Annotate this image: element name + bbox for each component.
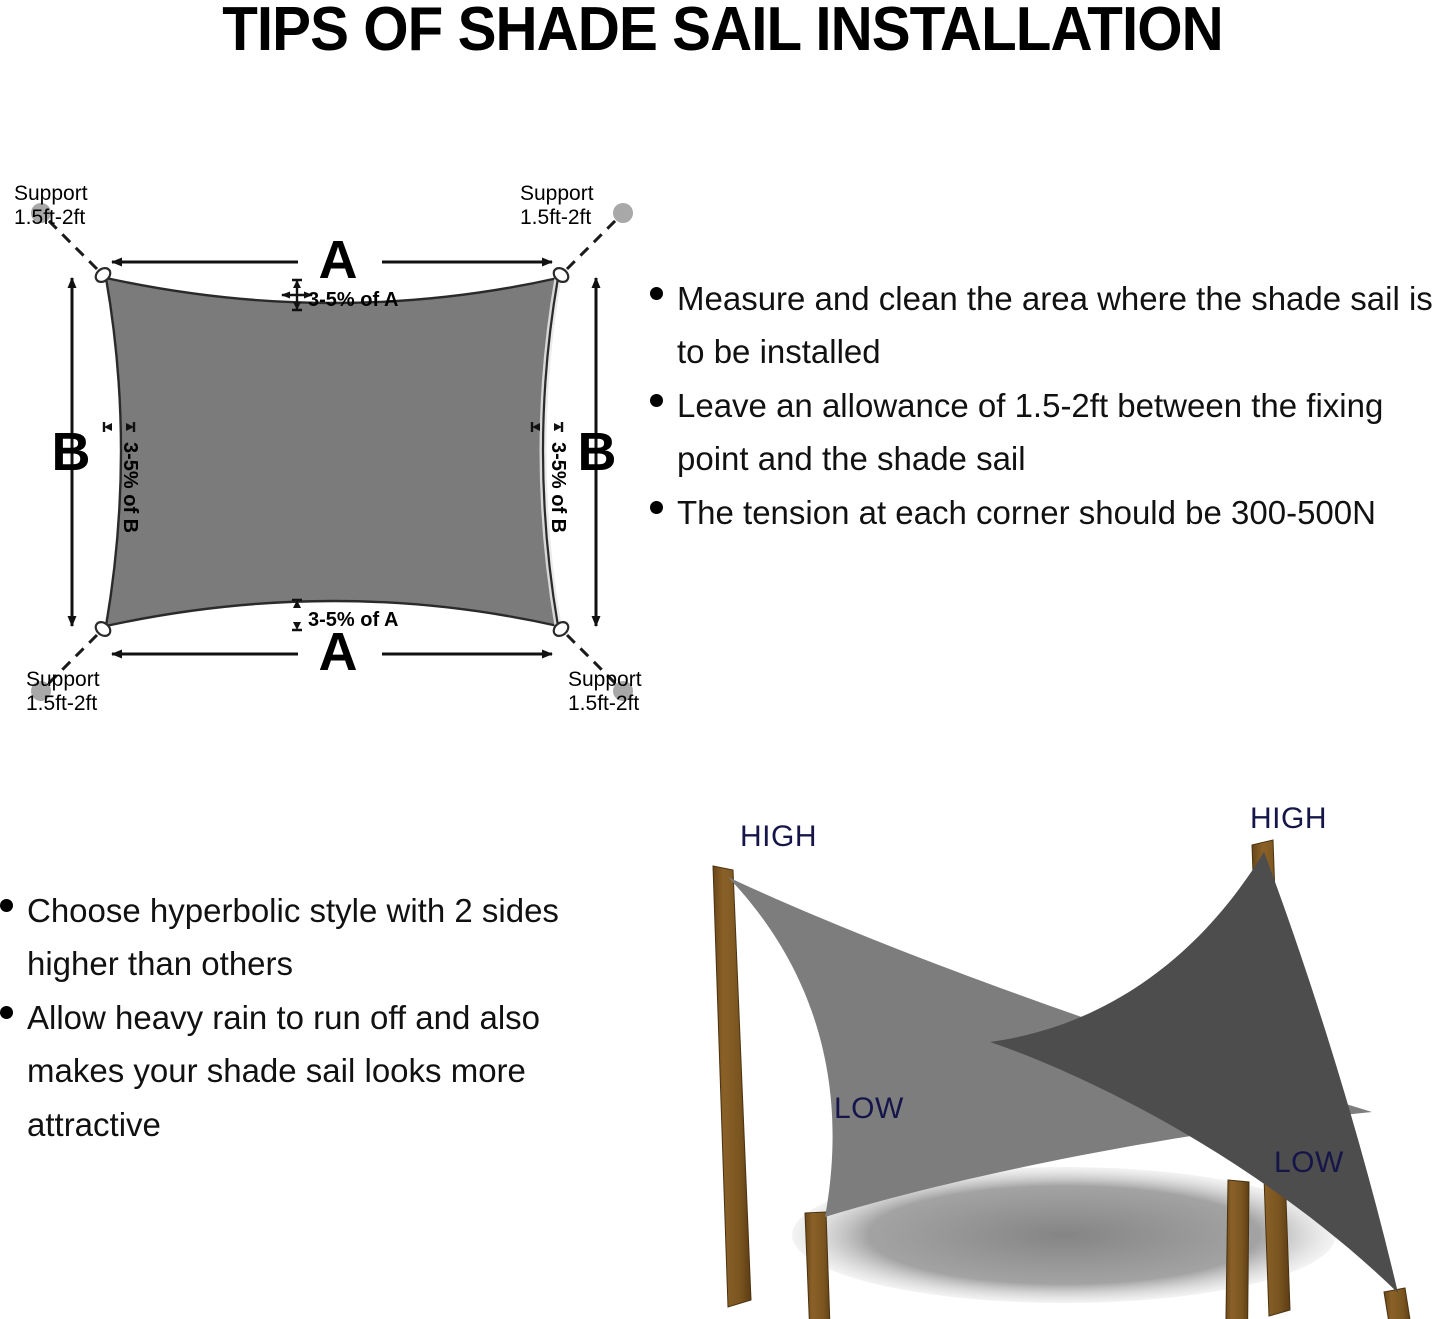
sail-shape bbox=[106, 278, 558, 626]
list-item-text: Choose hyperbolic style with 2 sides hig… bbox=[27, 884, 630, 991]
list-item: Choose hyperbolic style with 2 sides hig… bbox=[0, 884, 630, 991]
support-label-line1: Support bbox=[14, 182, 88, 205]
svg-text:B: B bbox=[52, 422, 91, 482]
svg-text:A: A bbox=[319, 230, 358, 290]
support-label-line2: 1.5ft-2ft bbox=[14, 206, 85, 229]
svg-text:3-5% of B: 3-5% of B bbox=[547, 442, 569, 533]
support-label-line1: Support bbox=[568, 668, 642, 691]
support-label-line1: Support bbox=[26, 668, 100, 691]
post-far-right-low bbox=[1384, 1288, 1411, 1319]
label-low-right: LOW bbox=[1274, 1146, 1344, 1180]
list-item-text: Measure and clean the area where the sha… bbox=[677, 272, 1445, 379]
svg-text:B: B bbox=[578, 422, 617, 482]
page-title: TIPS OF SHADE SAIL INSTALLATION bbox=[43, 0, 1401, 65]
bullet-icon bbox=[0, 1006, 13, 1019]
installation-tips-list-right: Measure and clean the area where the sha… bbox=[650, 272, 1445, 539]
label-high-left: HIGH bbox=[740, 820, 817, 854]
support-label-top-left: Support 1.5ft-2ft bbox=[14, 182, 88, 229]
post-left-high bbox=[713, 866, 751, 1307]
list-item-text: The tension at each corner should be 300… bbox=[677, 486, 1376, 539]
support-label-line2: 1.5ft-2ft bbox=[26, 692, 97, 715]
svg-text:3-5% of A: 3-5% of A bbox=[308, 609, 398, 631]
list-item-text: Allow heavy rain to run off and also mak… bbox=[27, 991, 630, 1151]
bullet-icon bbox=[650, 501, 663, 514]
support-label-top-right: Support 1.5ft-2ft bbox=[520, 182, 594, 229]
bullet-icon bbox=[650, 287, 663, 300]
svg-text:A: A bbox=[319, 622, 358, 682]
support-label-bottom-left: Support 1.5ft-2ft bbox=[26, 668, 100, 715]
rectangular-sail-diagram: A 3-5% of A A 3-5% of A B 3-5% of B bbox=[0, 160, 680, 740]
support-label-line1: Support bbox=[520, 182, 594, 205]
list-item: Measure and clean the area where the sha… bbox=[650, 272, 1445, 379]
support-label-line2: 1.5ft-2ft bbox=[520, 206, 591, 229]
hyperbolic-sail-diagram: HIGH HIGH LOW LOW bbox=[672, 780, 1445, 1319]
label-low-left: LOW bbox=[834, 1092, 904, 1126]
post-right-low bbox=[1225, 1180, 1249, 1319]
bullet-icon bbox=[0, 899, 13, 912]
support-label-bottom-right: Support 1.5ft-2ft bbox=[568, 668, 642, 715]
support-label-line2: 1.5ft-2ft bbox=[568, 692, 639, 715]
bullet-icon bbox=[650, 394, 663, 407]
svg-text:3-5% of B: 3-5% of B bbox=[119, 442, 141, 533]
list-item: Leave an allowance of 1.5-2ft between th… bbox=[650, 379, 1445, 486]
installation-tips-list-left: Choose hyperbolic style with 2 sides hig… bbox=[0, 884, 630, 1151]
list-item: The tension at each corner should be 300… bbox=[650, 486, 1445, 539]
svg-text:3-5% of A: 3-5% of A bbox=[308, 289, 398, 311]
list-item: Allow heavy rain to run off and also mak… bbox=[0, 991, 630, 1151]
list-item-text: Leave an allowance of 1.5-2ft between th… bbox=[677, 379, 1445, 486]
label-high-right: HIGH bbox=[1250, 802, 1327, 836]
